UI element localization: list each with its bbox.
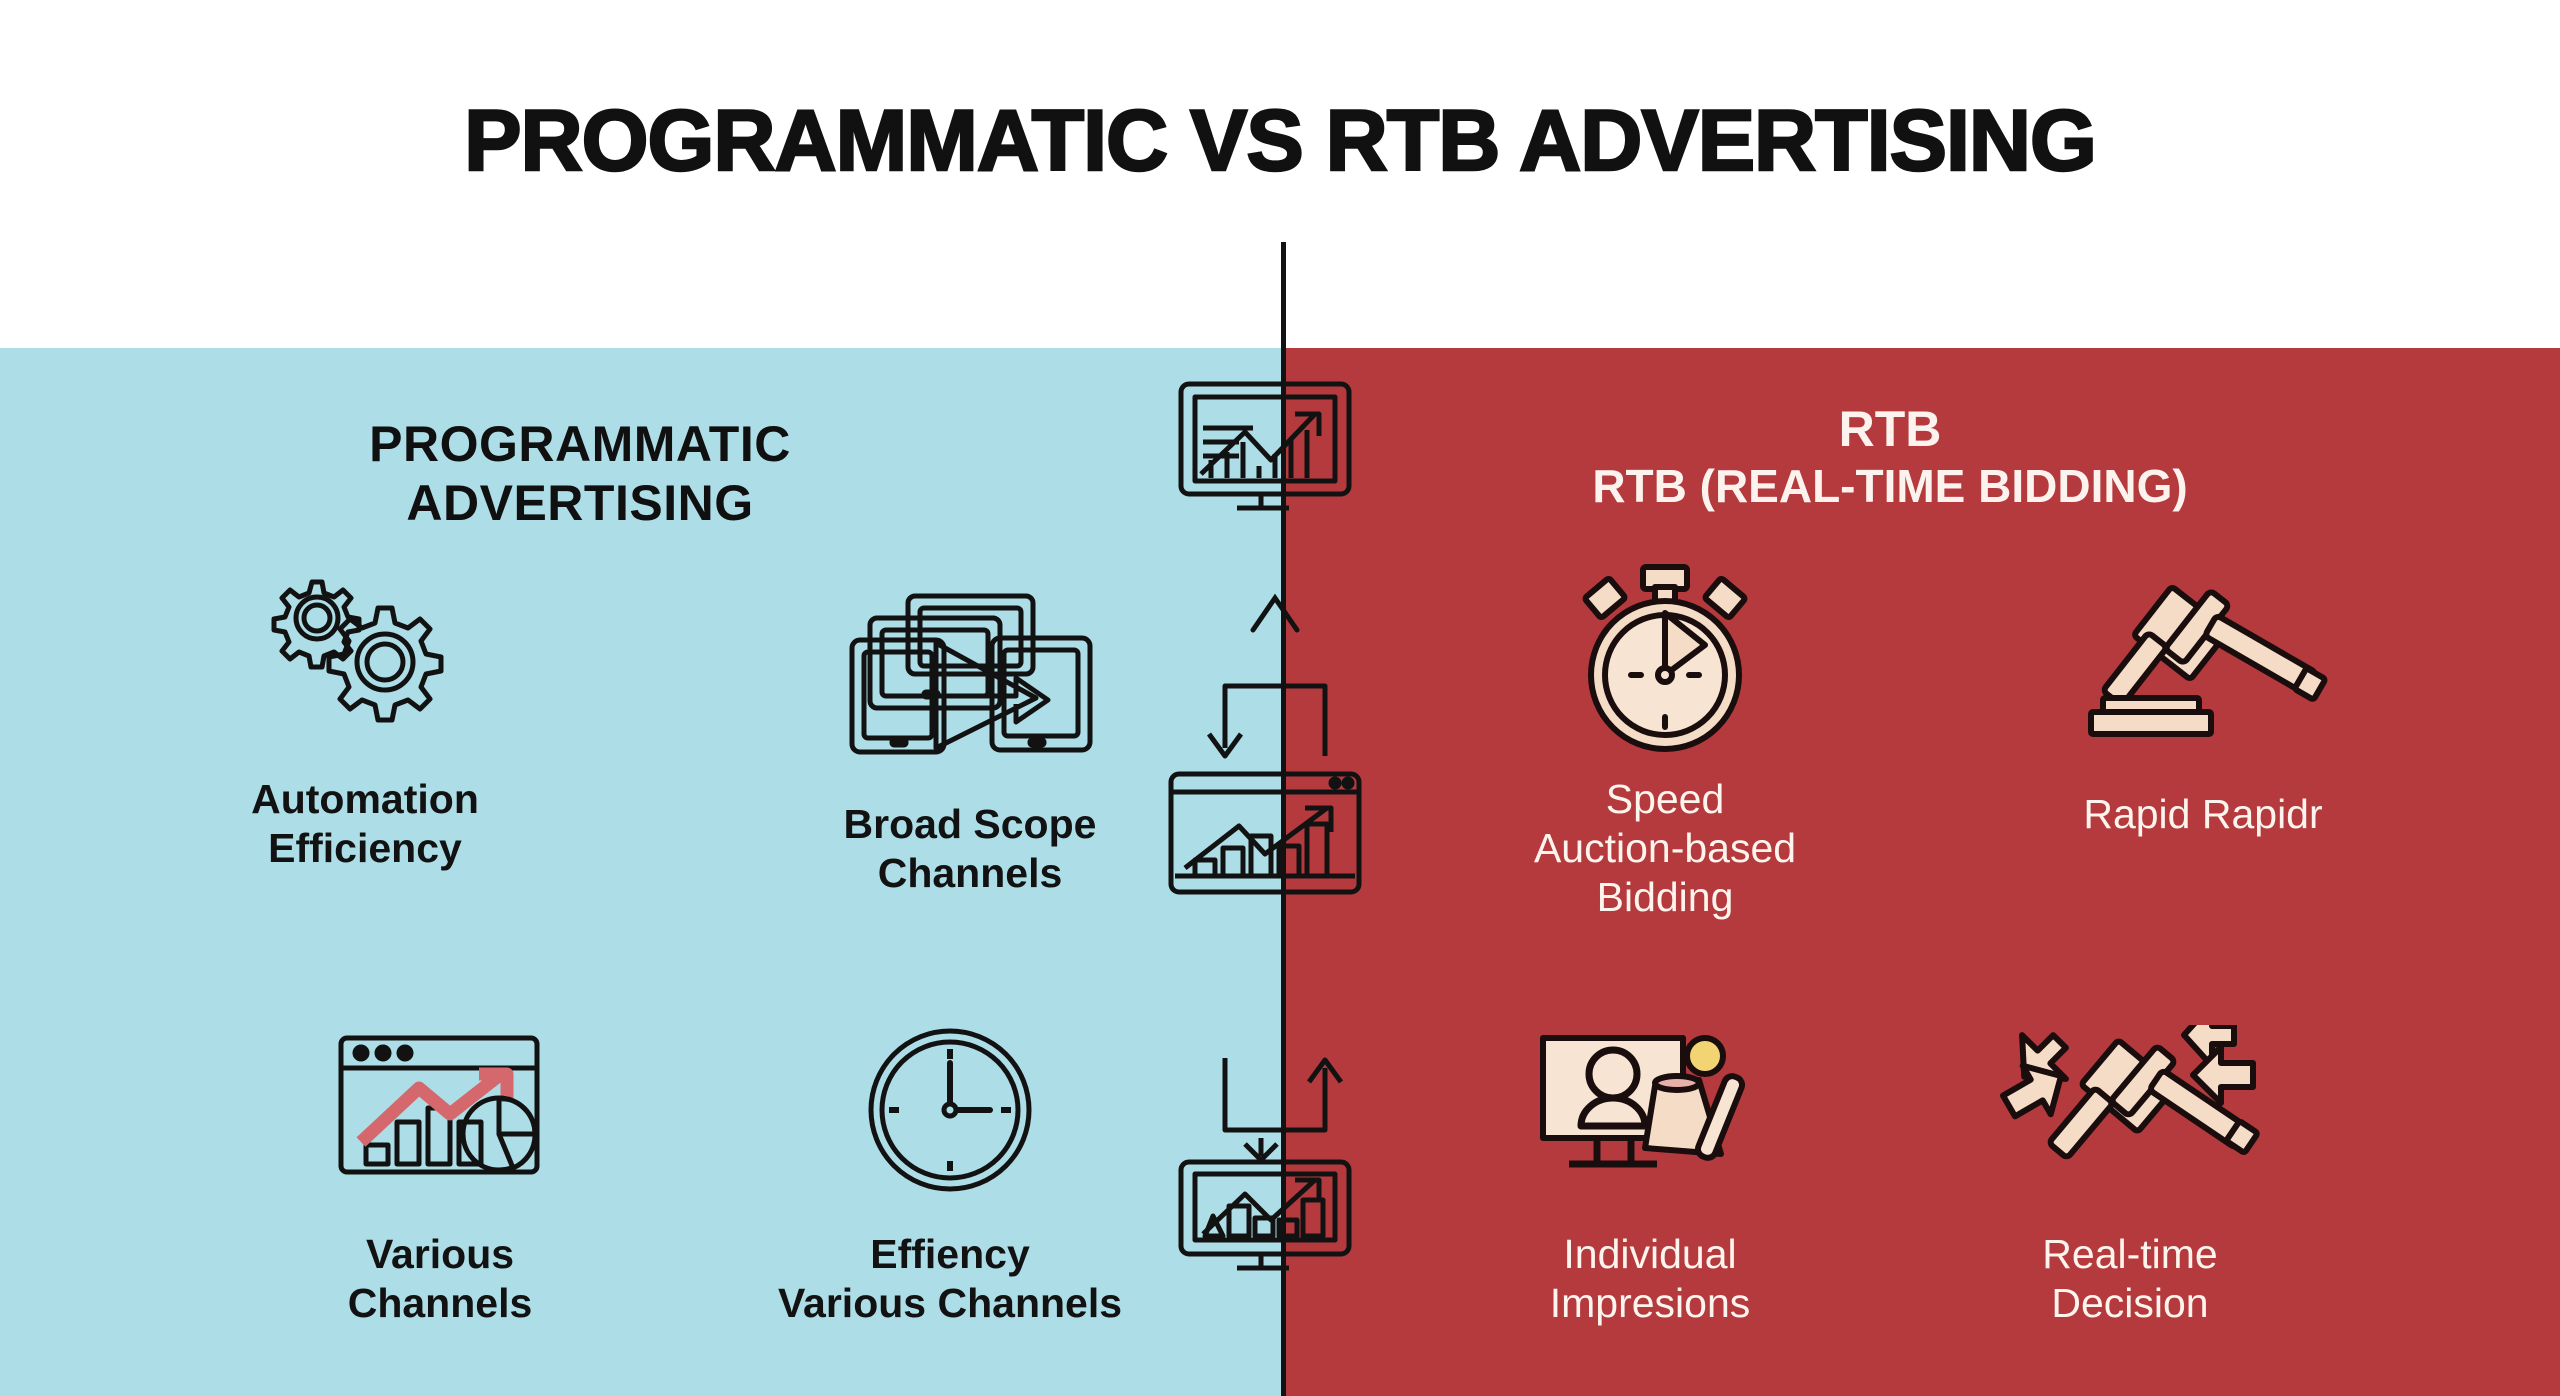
left-item-effiency[interactable]: Effiency Various Channels [700,1000,1200,1328]
label-line-1: Speed [1455,775,1875,824]
page-title: PROGRAMMATIC VS RTB ADVERTISING [0,92,2560,191]
right-item-rapid[interactable]: Rapid Rapidr [1983,560,2423,839]
infographic-canvas: PROGRAMMATIC VS RTB ADVERTISING Aut [0,0,2560,1396]
left-heading-line-1: PROGRAMMATIC [180,415,980,474]
right-item-individual[interactable]: Individual Impresions [1430,1000,1870,1328]
right-heading-line-1: RTB [1480,400,2300,459]
label-line-2: Various Channels [700,1279,1200,1328]
label-line-1: Effiency [700,1230,1200,1279]
label-line-2: Auction-based [1455,824,1875,873]
left-item-effiency-label: Effiency Various Channels [700,1230,1200,1328]
gears-icon [165,545,565,765]
left-item-various-channels[interactable]: Various Channels [240,1000,640,1328]
label-line-2: Efficiency [165,824,565,873]
right-item-realtime-decision[interactable]: Real-time Decision [1900,1000,2360,1328]
gavel-arrows-icon [1900,1000,2360,1220]
clock-icon [700,1000,1200,1220]
left-item-broad-scope-label: Broad Scope Channels [745,800,1195,898]
multi-device-play-icon [745,570,1195,790]
label-line-2: Channels [240,1279,640,1328]
label-line-2: Channels [745,849,1195,898]
left-heading-line-2: ADVERTISING [180,474,980,533]
right-heading-line-2: RTB (REAL-TIME BIDDING) [1480,459,2300,513]
right-item-speed-label: Speed Auction-based Bidding [1455,775,1875,923]
right-item-individual-label: Individual Impresions [1430,1230,1870,1328]
label-line-1: Various [240,1230,640,1279]
left-item-various-channels-label: Various Channels [240,1230,640,1328]
label-line-1: Rapid Rapidr [1983,790,2423,839]
person-monitor-megaphone-icon [1430,1000,1870,1220]
browser-analytics-icon [240,1000,640,1220]
left-item-automation-label: Automation Efficiency [165,775,565,873]
center-divider [1281,242,1286,1396]
gavel-icon [1983,560,2423,780]
label-line-2: Decision [1900,1279,2360,1328]
label-line-3: Bidding [1455,873,1875,922]
right-item-rapid-label: Rapid Rapidr [1983,790,2423,839]
label-line-1: Real-time [1900,1230,2360,1279]
label-line-1: Automation [165,775,565,824]
left-panel-heading: PROGRAMMATIC ADVERTISING [180,415,980,533]
stopwatch-icon [1455,545,1875,765]
label-line-1: Broad Scope [745,800,1195,849]
right-item-realtime-decision-label: Real-time Decision [1900,1230,2360,1328]
right-item-speed[interactable]: Speed Auction-based Bidding [1455,545,1875,923]
label-line-2: Impresions [1430,1279,1870,1328]
left-item-broad-scope[interactable]: Broad Scope Channels [745,570,1195,898]
right-panel-heading: RTB RTB (REAL-TIME BIDDING) [1480,400,2300,513]
left-item-automation[interactable]: Automation Efficiency [165,545,565,873]
label-line-1: Individual [1430,1230,1870,1279]
